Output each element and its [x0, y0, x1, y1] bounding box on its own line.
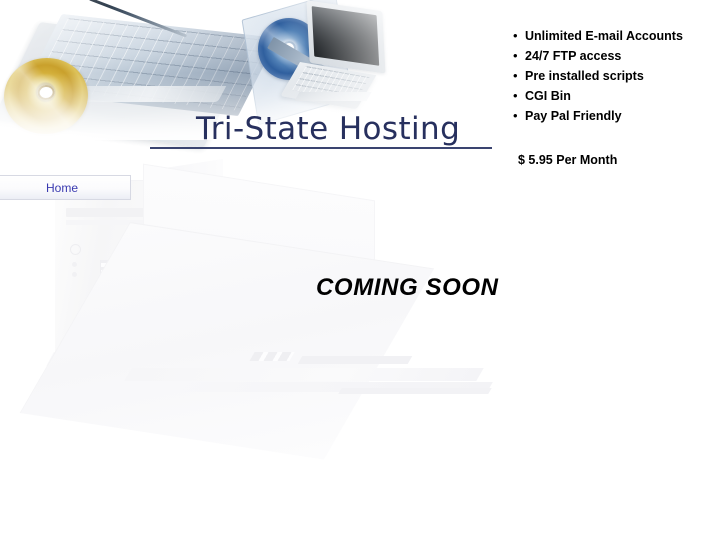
list-item: • Unlimited E-mail Accounts — [513, 28, 688, 44]
bullet-icon: • — [513, 88, 525, 104]
status-led-icon — [72, 262, 77, 267]
laptop-foot — [338, 388, 491, 394]
keyboard-keys — [32, 18, 274, 111]
keyboard-icon — [22, 14, 278, 116]
title-underline-rule — [150, 147, 492, 149]
bullet-icon: • — [513, 108, 525, 124]
optical-drive-slot — [66, 208, 152, 217]
tower-base — [46, 352, 233, 366]
status-led-icon — [72, 272, 77, 277]
feature-label: Unlimited E-mail Accounts — [525, 28, 683, 44]
laptop-base — [280, 62, 376, 109]
feature-label: Pre installed scripts — [525, 68, 644, 84]
tower-side-panel — [165, 159, 223, 346]
nav-item-home-label: Home — [46, 181, 78, 195]
bullet-icon: • — [513, 48, 525, 64]
desktop-tower-icon — [55, 180, 166, 356]
laptop-front-edge — [124, 368, 484, 381]
gold-cd-icon — [0, 54, 91, 138]
laptop-lower-edge — [147, 382, 493, 392]
background-watermark — [0, 160, 560, 480]
laptop-ports — [249, 352, 294, 361]
blue-cd-sheen — [258, 18, 320, 80]
feature-label: Pay Pal Friendly — [525, 108, 622, 124]
jewel-case-icon — [242, 0, 353, 125]
feature-label: CGI Bin — [525, 88, 571, 104]
blue-cd-icon — [258, 18, 320, 80]
power-button-icon — [70, 244, 81, 255]
laptop-icon — [306, 0, 385, 73]
bullet-icon: • — [513, 68, 525, 84]
laptop-front-lip — [298, 356, 413, 364]
bullet-icon: • — [513, 28, 525, 44]
list-item: • 24/7 FTP access — [513, 48, 688, 64]
main-navigation: Home — [0, 175, 131, 200]
price-label: $ 5.95 Per Month — [518, 153, 617, 167]
keyboard-front-edge — [38, 86, 227, 102]
list-item: • Pre installed scripts — [513, 68, 688, 84]
jewel-case-spine — [267, 37, 357, 96]
list-item: • CGI Bin — [513, 88, 688, 104]
coming-soon-banner: COMING SOON — [316, 274, 499, 302]
list-item: • Pay Pal Friendly — [513, 108, 688, 124]
gold-cd-sheen — [0, 54, 91, 138]
tower-vent-grille — [100, 260, 127, 348]
keyboard-shading — [22, 14, 278, 116]
laptop-front — [294, 92, 371, 101]
feature-label: 24/7 FTP access — [525, 48, 621, 64]
optical-drive-slot-secondary — [66, 220, 152, 225]
stylus-pen-icon — [89, 0, 187, 38]
open-laptop-icon — [20, 222, 434, 460]
laptop-keyboard — [292, 66, 369, 101]
page-title: Tri-State Hosting — [196, 111, 460, 147]
feature-list: • Unlimited E-mail Accounts • 24/7 FTP a… — [513, 28, 688, 128]
page-root: Tri-State Hosting Home • Unlimited E-mai… — [0, 0, 727, 545]
nav-item-home[interactable]: Home — [0, 175, 131, 200]
